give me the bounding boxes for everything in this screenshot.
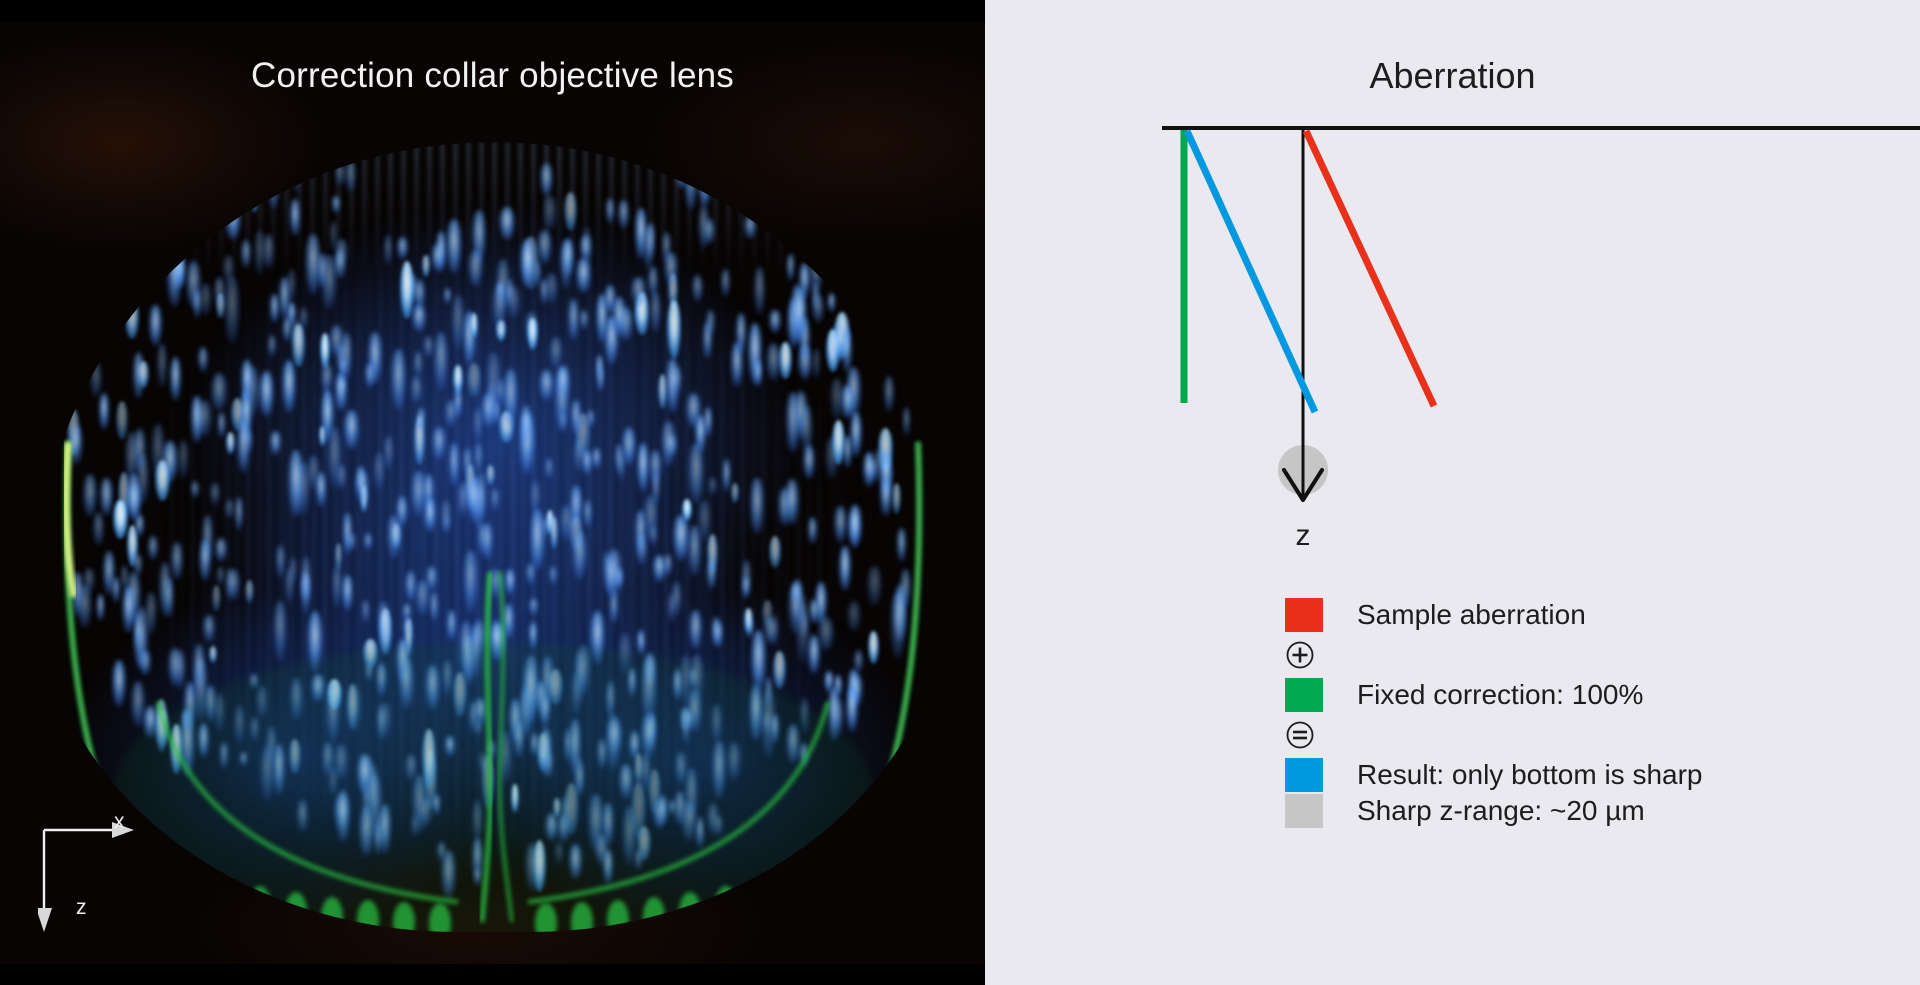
legend-operator-equals xyxy=(1285,718,1885,752)
legend-item-sharp-z-range: Sharp z-range: ~20 µm xyxy=(1285,794,1885,828)
microscopy-panel: x z Correction collar objective lens xyxy=(0,0,985,985)
green-square-swatch xyxy=(1285,678,1323,712)
axis-label-z: z xyxy=(76,896,87,920)
microscopy-image: x z xyxy=(0,22,985,964)
result-ray xyxy=(1187,131,1315,412)
plus-circle-icon xyxy=(1285,638,1323,672)
diagram-panel: Aberration z xyxy=(985,0,1920,985)
legend: Sample aberration Fixed correction: 100% xyxy=(1285,598,1885,834)
legend-label-sample-aberration: Sample aberration xyxy=(1357,600,1586,631)
legend-label-fixed-correction: Fixed correction: 100% xyxy=(1357,680,1643,711)
xz-axis-indicator: x z xyxy=(38,812,178,942)
microscopy-panel-title: Correction collar objective lens xyxy=(0,56,985,96)
legend-item-sample-aberration: Sample aberration xyxy=(1285,598,1885,632)
gray-square-swatch xyxy=(1285,794,1323,828)
blue-square-swatch xyxy=(1285,758,1323,792)
axis-arrows-icon xyxy=(38,812,178,942)
legend-label-sharp-z-range: Sharp z-range: ~20 µm xyxy=(1357,796,1645,827)
legend-label-result: Result: only bottom is sharp xyxy=(1357,760,1703,791)
z-axis xyxy=(1284,128,1322,500)
horizontal-axis xyxy=(1162,111,1920,145)
figure-root: x z Correction collar objective lens Abe… xyxy=(0,0,1920,985)
equals-circle-icon xyxy=(1285,718,1323,752)
red-square-swatch xyxy=(1285,598,1323,632)
z-axis-label: z xyxy=(1296,519,1311,552)
legend-item-result: Result: only bottom is sharp xyxy=(1285,758,1885,792)
legend-item-fixed-correction: Fixed correction: 100% xyxy=(1285,678,1885,712)
axis-label-x: x xyxy=(114,810,125,834)
sample-aberration-ray xyxy=(1306,131,1434,406)
aberration-ray-diagram: z xyxy=(985,0,1920,560)
legend-operator-plus xyxy=(1285,638,1885,672)
